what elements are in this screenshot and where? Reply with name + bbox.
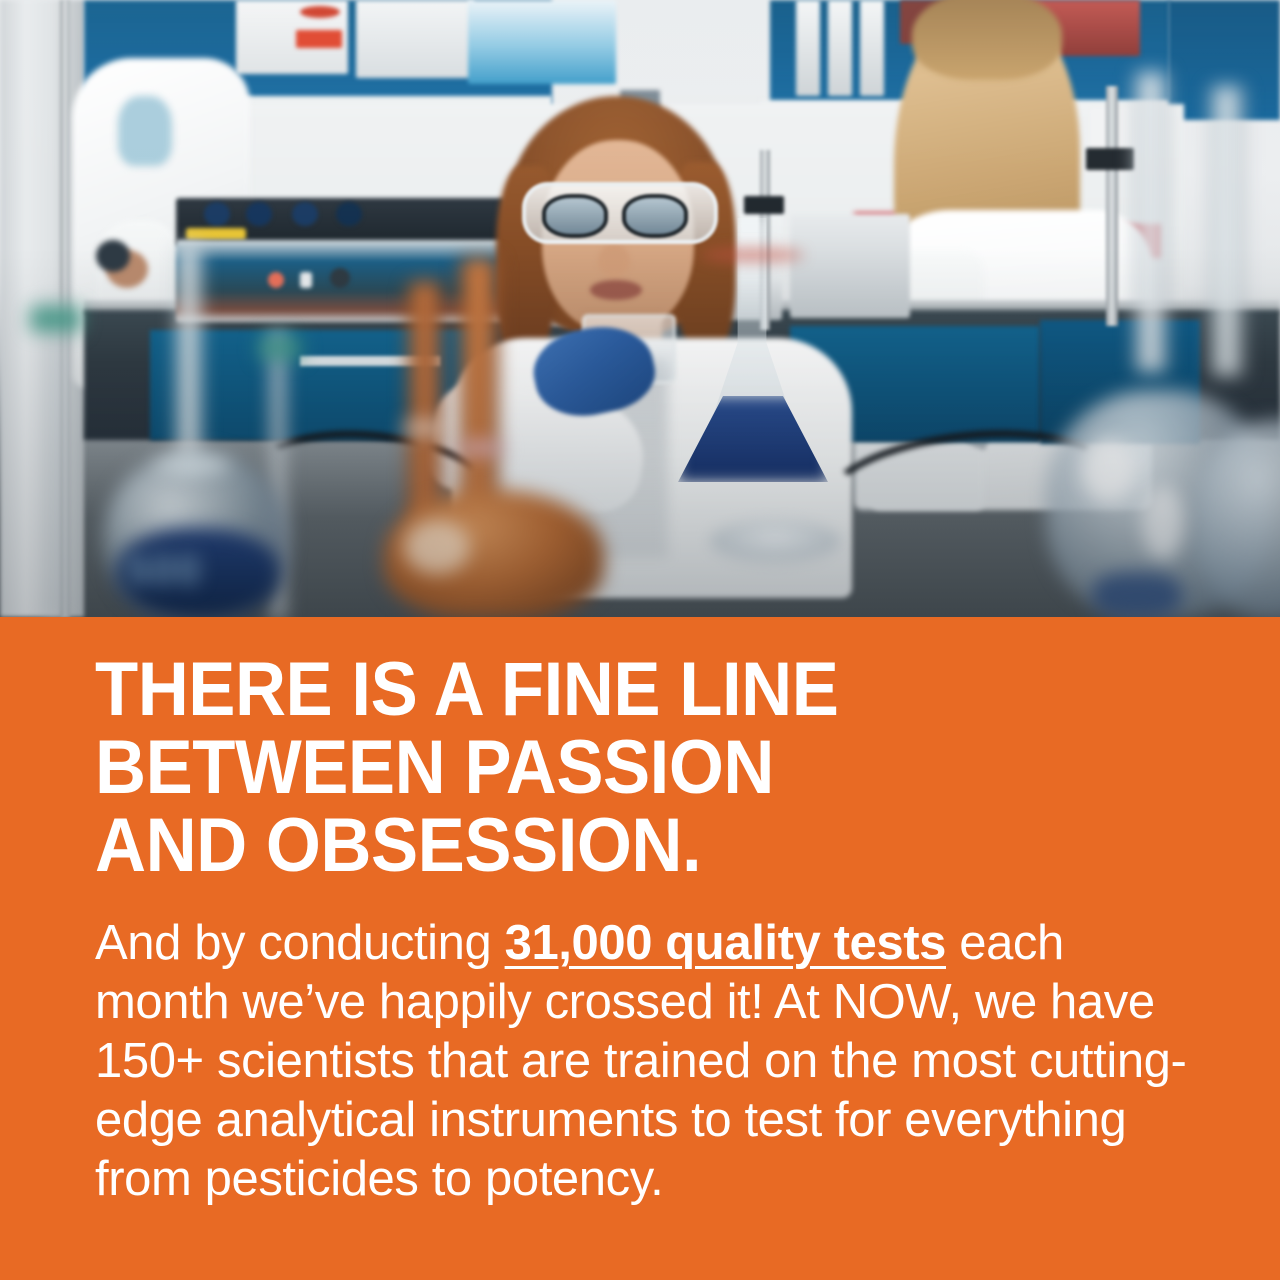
- clear-flask-neck-1: [1134, 72, 1168, 372]
- clear-flask-highlight-1: [1082, 438, 1134, 502]
- clear-flask-highlight-2: [1142, 486, 1184, 560]
- shelf-bottle-1: [796, 0, 820, 96]
- technician-device: [96, 240, 130, 272]
- amber-flask-neck-1: [408, 282, 442, 532]
- retort-rod-right: [1106, 86, 1118, 326]
- volumetric-flask-neck-left: [176, 244, 202, 474]
- headline-line-3: AND OBSESSION.: [95, 807, 1127, 885]
- rack-vial-4: [336, 202, 362, 226]
- scientist-mouth: [590, 280, 642, 300]
- shelf-box-blue: [468, 0, 616, 84]
- instrument-knob: [330, 268, 350, 288]
- foreground-clamp-mid: [258, 336, 302, 360]
- page-title: THERE IS A FINE LINE BETWEEN PASSION AND…: [95, 651, 1127, 885]
- clear-flask-liquid-blue: [1092, 572, 1182, 617]
- volumetric-flask-500-ring: [154, 456, 230, 474]
- rack-vial-3: [292, 202, 318, 226]
- eyeglass-lens-right: [622, 194, 688, 238]
- eyeglass-lens-left: [542, 194, 608, 238]
- scientist-nose: [598, 244, 630, 278]
- petri-dish: [710, 520, 840, 562]
- rack-vial-2: [246, 202, 272, 226]
- foreground-stand-rod-left: [46, 300, 64, 617]
- amber-flask-band-2: [456, 440, 506, 456]
- rack-yellow-label: [186, 228, 246, 240]
- lab-photo: 500: [0, 0, 1280, 617]
- shelf-bottle-2: [828, 0, 852, 96]
- foreground-clamp-left: [30, 306, 82, 332]
- shelf-label-red: [296, 30, 342, 48]
- retort-clamp-right: [1086, 148, 1134, 170]
- scientist-right-hair-crown: [912, 0, 1062, 80]
- instrument-display: [300, 272, 312, 288]
- clear-flask-neck-2: [1210, 86, 1244, 376]
- quality-tests-highlight: 31,000 quality tests: [505, 916, 946, 970]
- rack-vial-1: [204, 202, 230, 226]
- shelf-box-2: [356, 0, 474, 78]
- amber-flask-highlight: [404, 520, 470, 574]
- technician-teal-item: [118, 96, 172, 166]
- promo-page: 500 THERE IS A FINE LINE BETWEEN PASSION…: [0, 0, 1280, 1280]
- headline-line-2: BETWEEN PASSION: [95, 729, 1127, 807]
- orange-message-panel: THERE IS A FINE LINE BETWEEN PASSION AND…: [0, 617, 1280, 1280]
- body-copy: And by conducting 31,000 quality tests e…: [95, 914, 1200, 1209]
- instrument-right-module: [790, 214, 910, 318]
- flask-volume-label: 500: [126, 546, 250, 594]
- headline-line-1: THERE IS A FINE LINE: [95, 651, 1127, 729]
- body-copy-intro: And by conducting: [95, 916, 505, 970]
- amber-flask-band-1: [400, 420, 448, 436]
- instrument-led: [268, 272, 284, 288]
- flask-graduation-ring: [700, 248, 804, 262]
- shelf-sticker-red: [300, 6, 340, 18]
